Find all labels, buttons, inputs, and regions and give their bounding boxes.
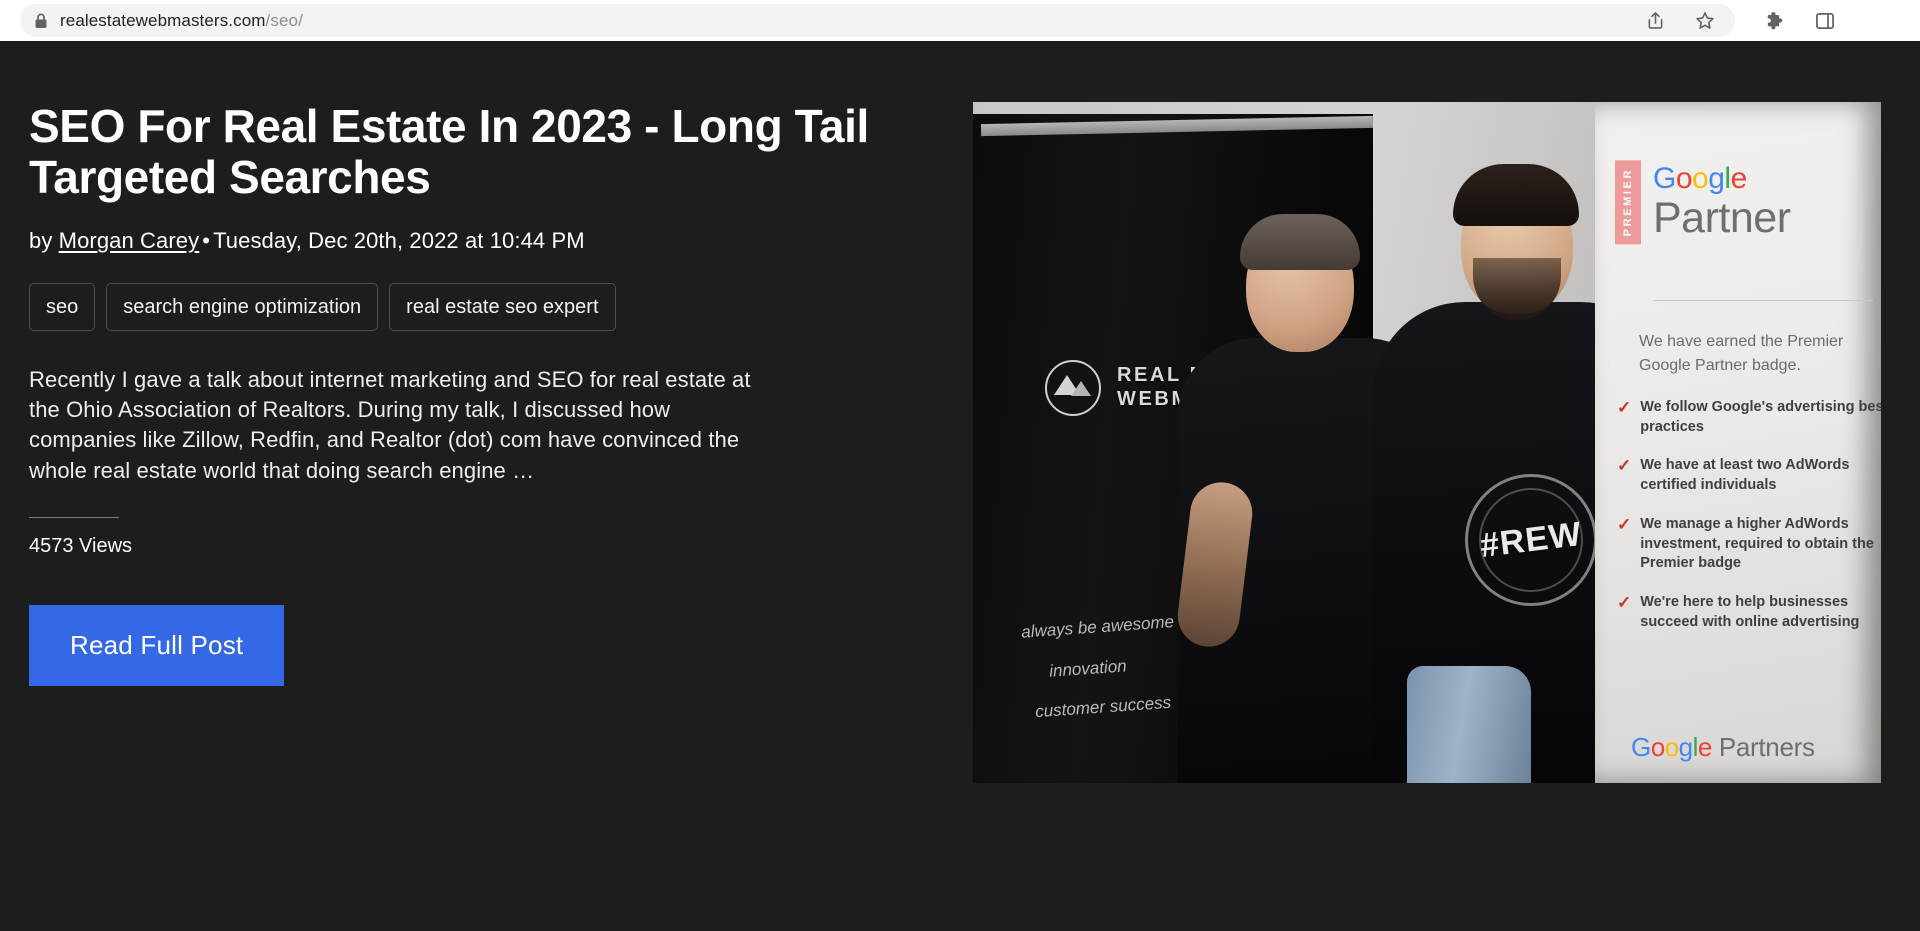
mountain-icon [1045, 360, 1101, 416]
person-right-hair [1453, 164, 1579, 226]
byline-by-label: by [29, 228, 52, 253]
post-text-column: SEO For Real Estate In 2023 - Long Tail … [29, 101, 949, 686]
divider [29, 517, 119, 518]
url-domain: realestatewebmasters.com [60, 11, 266, 30]
banner-bullet: ✓ We manage a higher AdWords investment,… [1617, 515, 1881, 574]
check-icon: ✓ [1617, 594, 1631, 632]
banner-bullet-text: We're here to help businesses succeed wi… [1640, 593, 1881, 632]
post-excerpt: Recently I gave a talk about internet ma… [29, 365, 774, 486]
post-byline: by Morgan Carey•Tuesday, Dec 20th, 2022 … [29, 228, 949, 254]
featured-post-card: SEO For Real Estate In 2023 - Long Tail … [0, 41, 1920, 931]
side-panel-icon[interactable] [1813, 9, 1837, 33]
person-left-hair [1240, 214, 1360, 270]
banner-rule [1653, 300, 1873, 301]
banner-bullet: ✓ We're here to help businesses succeed … [1617, 593, 1881, 632]
post-featured-image[interactable]: REAL ESTATE WEBMASTERS always be awesome… [973, 102, 1881, 783]
banner-bullet: ✓ We follow Google's advertising best pr… [1617, 398, 1881, 437]
check-icon: ✓ [1617, 457, 1631, 495]
banner-bullet: ✓ We have at least two AdWords certified… [1617, 456, 1881, 495]
banner-subtitle: We have earned the Premier Google Partne… [1639, 330, 1881, 378]
premier-badge-label: PREMIER [1615, 160, 1641, 244]
google-partner-banner: PREMIER Google Partner We have earned th… [1595, 102, 1881, 783]
person-right-jeans [1407, 666, 1531, 783]
photo-scene: REAL ESTATE WEBMASTERS always be awesome… [973, 102, 1881, 783]
tag-list: seo search engine optimization real esta… [29, 283, 949, 331]
footer-google-logo: Google [1631, 732, 1712, 762]
page-content: SEO For Real Estate In 2023 - Long Tail … [0, 41, 1920, 931]
backdrop-rod [981, 116, 1373, 136]
google-logo-text: Google [1653, 164, 1791, 194]
share-icon[interactable] [1643, 9, 1667, 33]
rew-shirt-logo: #REW [1465, 474, 1597, 606]
lock-icon [34, 13, 48, 29]
banner-bullet-text: We manage a higher AdWords investment, r… [1640, 515, 1881, 574]
url-path: /seo/ [266, 11, 303, 30]
banner-bullet-text: We follow Google's advertising best prac… [1640, 398, 1881, 437]
check-icon: ✓ [1617, 399, 1631, 437]
google-letter-o2: o [1692, 162, 1708, 195]
google-letter-g1: G [1653, 162, 1676, 195]
google-partner-header: PREMIER Google Partner [1615, 160, 1791, 244]
read-full-post-button[interactable]: Read Full Post [29, 605, 284, 686]
google-letter-o1: o [1676, 162, 1692, 195]
browser-toolbar: realestatewebmasters.com/seo/ [0, 0, 1920, 41]
puzzle-icon[interactable] [1763, 9, 1787, 33]
star-icon[interactable] [1693, 9, 1717, 33]
tag-seo[interactable]: seo [29, 283, 95, 331]
google-letter-g2: g [1708, 162, 1724, 195]
banner-bullet-text: We have at least two AdWords certified i… [1640, 456, 1881, 495]
banner-footer-logo: Google Partners [1631, 732, 1815, 763]
byline-separator: • [199, 228, 213, 253]
check-icon: ✓ [1617, 516, 1631, 574]
google-letter-e: e [1731, 162, 1747, 195]
address-bar[interactable]: realestatewebmasters.com/seo/ [20, 4, 1735, 37]
view-count: 4573 Views [29, 535, 949, 558]
page-title: SEO For Real Estate In 2023 - Long Tail … [29, 101, 929, 202]
post-date: Tuesday, Dec 20th, 2022 at 10:44 PM [213, 228, 585, 253]
partner-word: Partner [1653, 196, 1791, 241]
author-link[interactable]: Morgan Carey [59, 228, 200, 253]
footer-partners-word: Partners [1712, 732, 1815, 762]
banner-bullet-list: ✓ We follow Google's advertising best pr… [1617, 398, 1881, 651]
tag-real-estate-seo-expert[interactable]: real estate seo expert [389, 283, 615, 331]
tag-search-engine-optimization[interactable]: search engine optimization [106, 283, 378, 331]
url-text: realestatewebmasters.com/seo/ [60, 11, 303, 31]
google-partner-wordmark: Google Partner [1653, 160, 1791, 244]
